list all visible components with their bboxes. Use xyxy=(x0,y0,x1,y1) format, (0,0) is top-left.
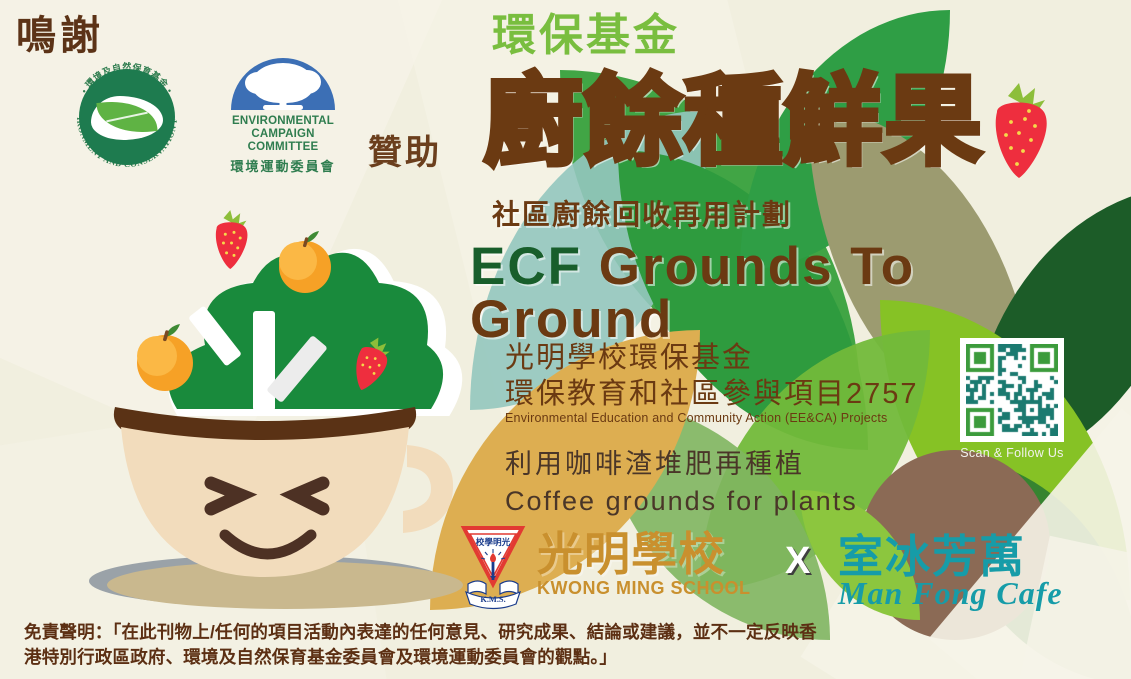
cafe-name-zh: 室冰芳萬 xyxy=(838,534,1063,579)
school-name-block: 光明學校 KWONG MING SCHOOL xyxy=(537,531,751,599)
mascot-cup-handle xyxy=(403,445,453,533)
mascot-orange-left xyxy=(137,324,193,391)
ecc-logo-tree-icon xyxy=(231,58,335,110)
english-title: ECF Grounds To Ground xyxy=(470,240,1131,346)
ecc-logo-line-zh: 環境運動委員會 xyxy=(222,156,344,175)
thanks-label: 鳴謝 xyxy=(16,16,104,56)
ecf-logo: • 環境及自然保育基金 • ENVIRONMENT AND CONSERVATI… xyxy=(62,52,192,182)
svg-text:K.M.S.: K.M.S. xyxy=(480,595,505,604)
english-title-prefix: ECF xyxy=(470,237,582,296)
qr-code-image[interactable] xyxy=(960,338,1064,442)
project-info: 光明學校環保基金 環保教育和社區參與項目2757 Environmental E… xyxy=(505,340,919,425)
qr-code-canvas xyxy=(966,344,1058,436)
school-name-en: KWONG MING SCHOOL xyxy=(537,578,751,599)
mascot-strawberry-top xyxy=(216,210,248,269)
page-subtitle: 社區廚餘回收再用計劃 xyxy=(492,193,792,233)
bg-strawberry-icon xyxy=(975,78,1061,188)
cafe-name-en: Man Fong Cafe xyxy=(838,575,1063,612)
ecc-logo: ENVIRONMENTAL CAMPAIGN COMMITTEE 環境運動委員會 xyxy=(222,58,344,182)
project-line-2: 環保教育和社區參與項目2757 xyxy=(505,376,919,412)
poster-canvas: 鳴謝 • 環境及自然保育基金 • ENVIRONMENT AND CONSERV… xyxy=(0,0,1131,679)
disclaimer-text: 免責聲明：「在此刊物上/任何的項目活動內表達的任何意見、研究成果、結論或建議，並… xyxy=(24,620,824,670)
qr-code-caption: Scan & Follow Us xyxy=(960,446,1064,460)
qr-code-block[interactable]: Scan & Follow Us xyxy=(960,338,1064,460)
page-title: 廚餘種鮮果 xyxy=(484,72,984,170)
project-line-3-en: Environmental Education and Community Ac… xyxy=(505,411,919,425)
sponsor-label: 贊助 xyxy=(368,125,442,174)
coffee-cup-mascot xyxy=(55,195,475,615)
coffee-tagline-zh: 利用咖啡渣堆肥再種植 xyxy=(505,447,858,482)
mascot-orange-right xyxy=(279,231,331,293)
partner-separator: X xyxy=(785,540,810,583)
cafe-name-block: 室冰芳萬 Man Fong Cafe xyxy=(838,534,1063,612)
project-line-1: 光明學校環保基金 xyxy=(505,340,919,376)
school-name-zh: 光明學校 xyxy=(537,531,751,577)
svg-text:校學明光: 校學明光 xyxy=(476,536,511,547)
coffee-tagline: 利用咖啡渣堆肥再種植 Coffee grounds for plants xyxy=(505,447,858,521)
fund-label: 環保基金 xyxy=(492,14,680,58)
coffee-tagline-en: Coffee grounds for plants xyxy=(505,482,858,521)
ecc-logo-line1: ENVIRONMENTAL CAMPAIGN COMMITTEE xyxy=(222,115,344,154)
